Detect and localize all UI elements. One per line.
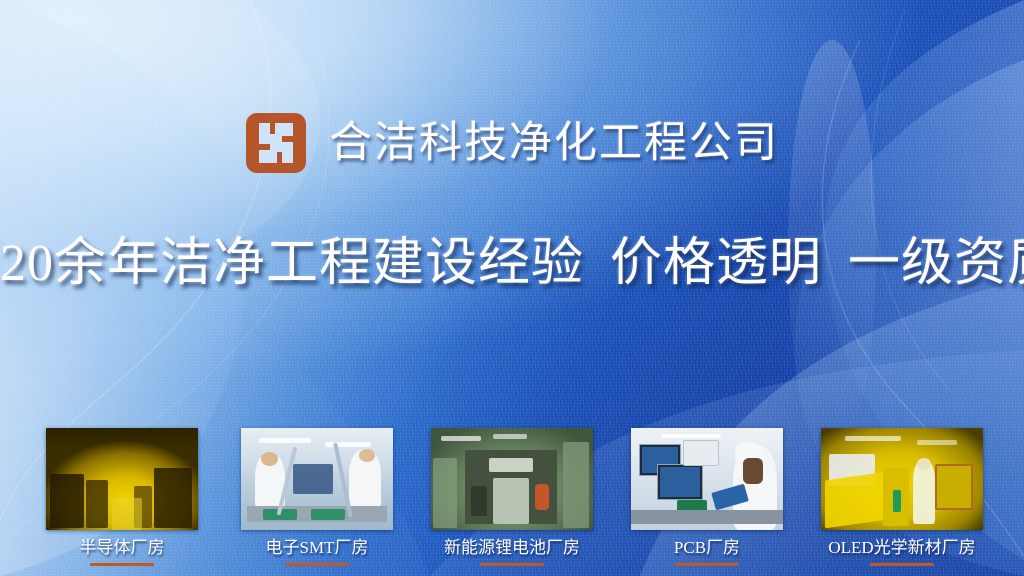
thumbnail-item[interactable]: PCB厂房 bbox=[610, 428, 805, 566]
facility-thumbnail-row: 半导体厂房 电子SMT厂房 bbox=[0, 406, 1024, 566]
thumbnail-underline bbox=[675, 563, 739, 566]
thumbnail-caption: OLED光学新材厂房 bbox=[828, 539, 975, 556]
thumbnail-caption: 新能源锂电池厂房 bbox=[444, 539, 580, 556]
thumbnail-item[interactable]: OLED光学新材厂房 bbox=[805, 428, 1000, 566]
brand-header: 合洁科技净化工程公司 bbox=[0, 112, 1024, 174]
thumbnail-photo-pcb[interactable] bbox=[631, 428, 783, 530]
thumbnail-photo-semiconductor[interactable] bbox=[46, 428, 198, 530]
headline-part-2: 价格透明 bbox=[610, 235, 822, 292]
headline: 20余年洁净工程建设经验价格透明一级资质 bbox=[0, 236, 1024, 292]
thumbnail-caption: 电子SMT厂房 bbox=[266, 539, 369, 556]
headline-part-3: 一级资质 bbox=[848, 235, 1024, 292]
thumbnail-photo-battery[interactable] bbox=[431, 428, 593, 530]
h-monogram-logo-icon bbox=[245, 112, 307, 174]
thumbnail-underline bbox=[480, 563, 544, 566]
thumbnail-item[interactable]: 电子SMT厂房 bbox=[220, 428, 415, 566]
thumbnail-caption: PCB厂房 bbox=[674, 539, 740, 556]
promo-banner: 合洁科技净化工程公司 20余年洁净工程建设经验价格透明一级资质 半导体厂房 bbox=[0, 0, 1024, 576]
thumbnail-item[interactable]: 新能源锂电池厂房 bbox=[415, 428, 610, 566]
thumbnail-photo-oled[interactable] bbox=[821, 428, 983, 530]
thumbnail-item[interactable]: 半导体厂房 bbox=[25, 428, 220, 566]
headline-part-1: 20余年洁净工程建设经验 bbox=[0, 235, 584, 292]
thumbnail-underline bbox=[870, 563, 934, 566]
thumbnail-caption: 半导体厂房 bbox=[80, 539, 165, 556]
company-name: 合洁科技净化工程公司 bbox=[329, 122, 779, 165]
thumbnail-underline bbox=[90, 563, 154, 566]
thumbnail-underline bbox=[285, 563, 349, 566]
thumbnail-photo-smt[interactable] bbox=[241, 428, 393, 530]
